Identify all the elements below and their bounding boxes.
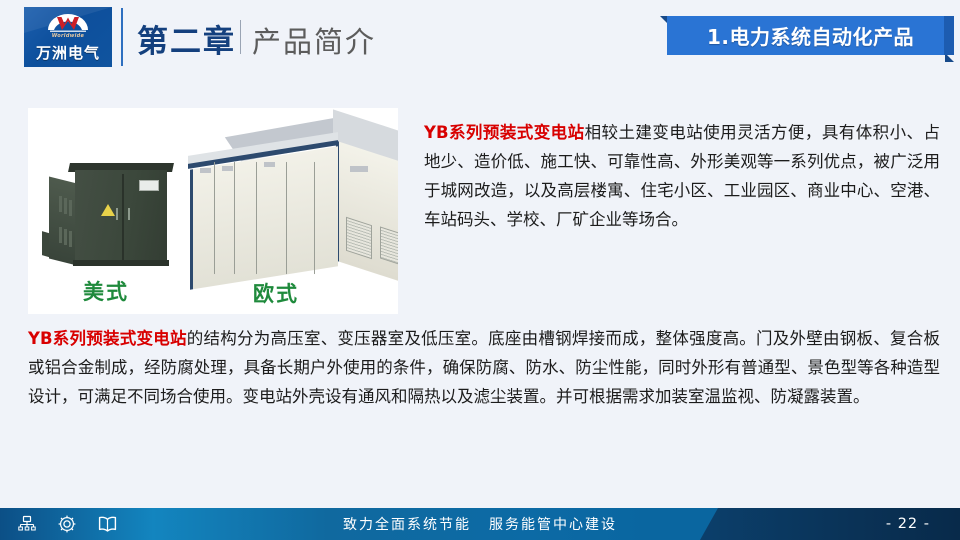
- logo-chinese-text: 万洲电气: [24, 42, 112, 63]
- european-door-seam: [256, 162, 257, 274]
- structure-paragraph: YB系列预装式变电站的结构分为高压室、变压器室及低压室。底座由槽钢焊接而成，整体…: [28, 324, 940, 411]
- section-subtitle: 产品简介: [252, 19, 376, 61]
- page-number: - 22 -: [886, 508, 930, 540]
- footer-slogan: 致力全面系统节能 服务能管中心建设: [0, 508, 960, 540]
- caption-european: 欧式: [253, 278, 299, 308]
- section-badge[interactable]: 1.电力系统自动化产品: [660, 16, 954, 62]
- european-substation-side-panel: [336, 141, 398, 286]
- european-door-seam: [234, 162, 235, 274]
- caption-american: 美式: [83, 276, 129, 306]
- substation-photo: 美式 欧式: [28, 108, 398, 314]
- european-nameplate: [222, 166, 233, 171]
- american-vent-louver: [64, 229, 67, 245]
- badge-label: 1.电力系统自动化产品: [707, 21, 914, 50]
- american-vent-louver: [59, 227, 62, 243]
- european-nameplate: [264, 162, 275, 167]
- warning-triangle-icon: [101, 204, 115, 216]
- european-door-seam: [314, 162, 315, 274]
- american-nameplate: [139, 180, 159, 191]
- american-door-handle: [116, 208, 118, 220]
- slide-canvas: Worldwide 万洲电气 第二章 产品简介 1.电力系统自动化产品: [0, 0, 960, 540]
- intro-paragraph: YB系列预装式变电站相较土建变电站使用灵活方便，具有体积小、占地少、造价低、施工…: [424, 118, 940, 234]
- american-vent-louver: [59, 196, 62, 212]
- american-door-seam: [122, 174, 124, 260]
- badge-shade: [944, 16, 954, 55]
- european-nameplate: [200, 168, 211, 173]
- american-substation-side-panel: [49, 177, 77, 266]
- american-vent-louver: [64, 198, 67, 214]
- american-substation-base: [73, 260, 169, 266]
- company-logo: Worldwide 万洲电气: [24, 7, 112, 67]
- slide-header: Worldwide 万洲电气 第二章 产品简介 1.电力系统自动化产品: [0, 0, 960, 82]
- american-door-handle: [128, 208, 130, 220]
- title-separator: [240, 20, 241, 54]
- w-emblem-icon: [46, 12, 90, 33]
- footer-slogan-right: 服务能管中心建设: [489, 514, 617, 534]
- slide-footer: 致力全面系统节能 服务能管中心建设 - 22 -: [0, 508, 960, 540]
- american-vent-louver: [69, 200, 72, 216]
- european-door-seam: [214, 162, 215, 274]
- footer-slogan-left: 致力全面系统节能: [343, 514, 471, 534]
- logo-latin-text: Worldwide: [24, 33, 112, 39]
- european-substation-front-panel: [190, 146, 338, 289]
- chapter-title: 第二章: [137, 16, 236, 61]
- intro-keyword: YB系列预装式变电站: [424, 123, 585, 142]
- header-divider: [121, 8, 123, 66]
- european-door-seam: [286, 162, 287, 274]
- european-nameplate: [350, 166, 368, 172]
- structure-keyword: YB系列预装式变电站: [28, 329, 187, 348]
- american-vent-louver: [69, 231, 72, 247]
- badge-body: 1.电力系统自动化产品: [667, 16, 954, 55]
